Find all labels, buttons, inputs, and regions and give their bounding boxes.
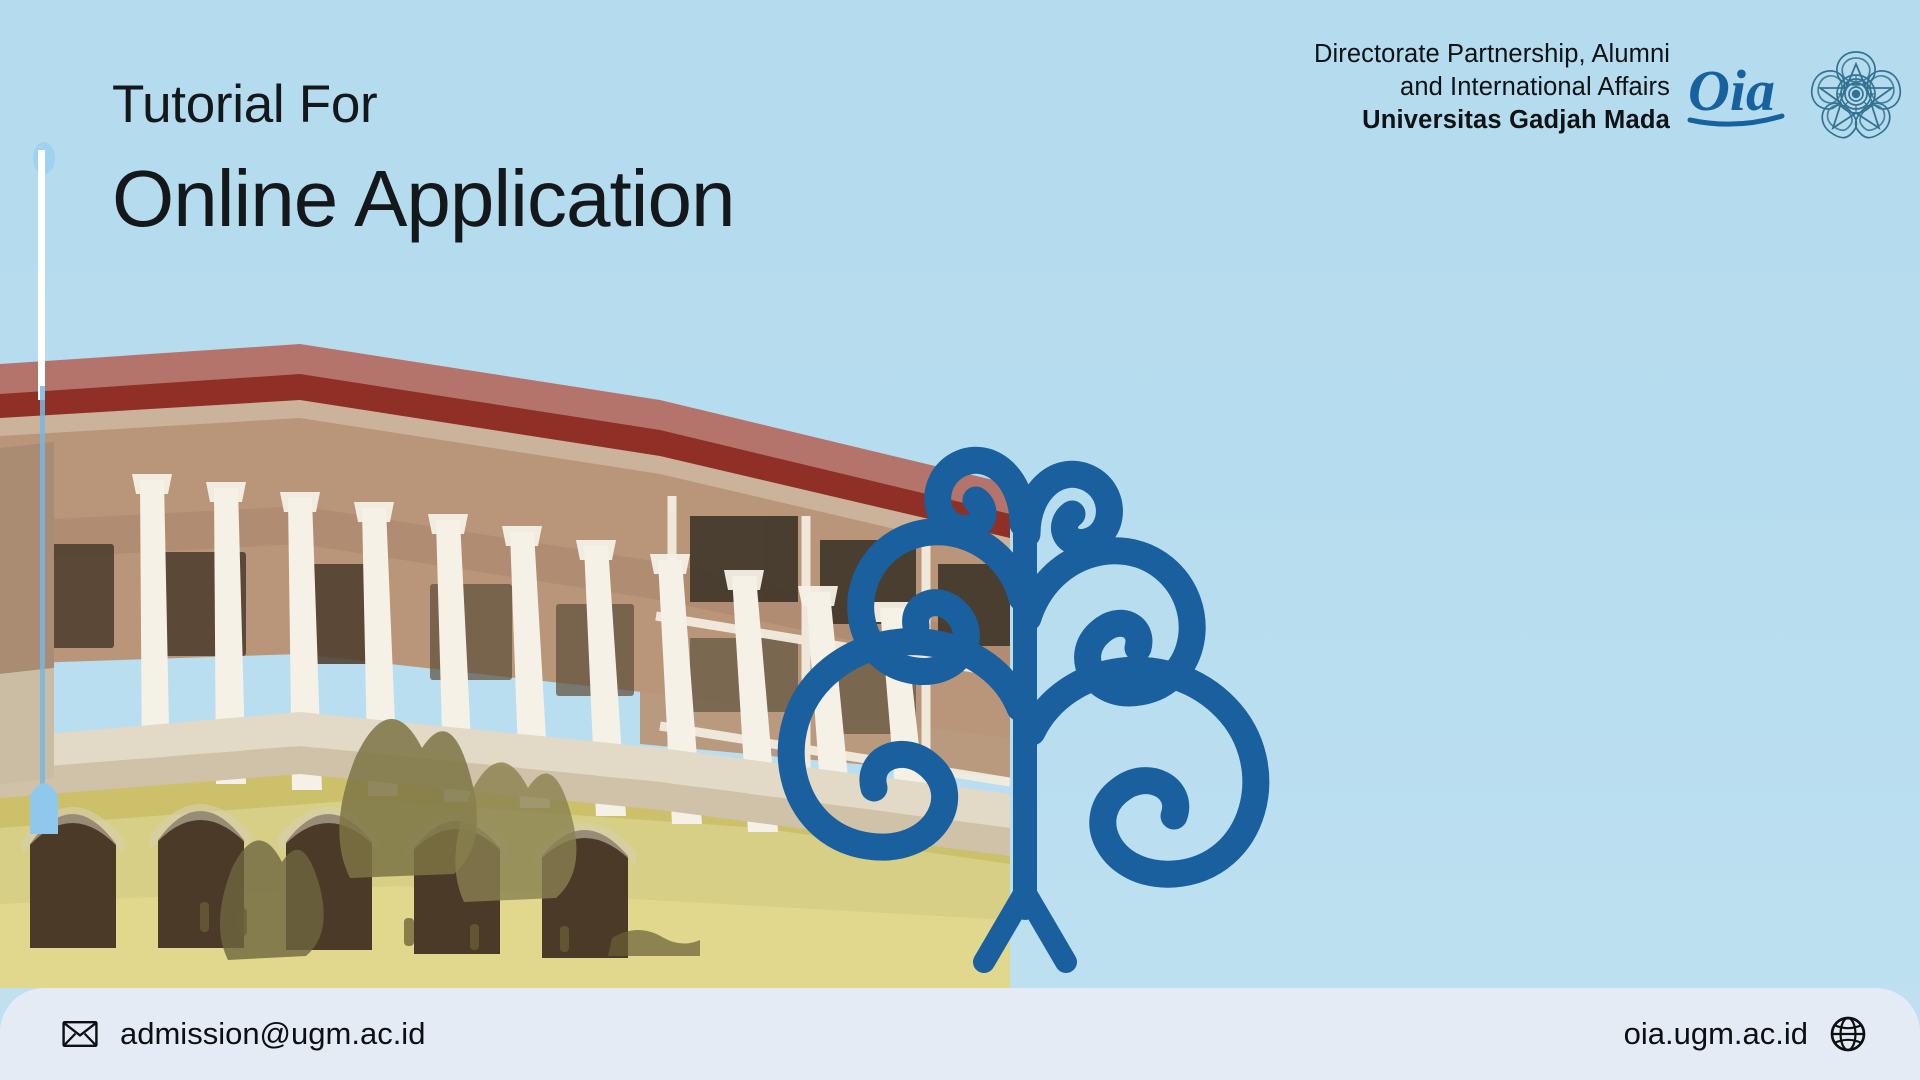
ugm-seal-logo xyxy=(1804,44,1908,140)
footer-email-group[interactable]: admission@ugm.ac.id xyxy=(62,1016,425,1052)
footer-bar: admission@ugm.ac.id oia.ugm.ac.id xyxy=(0,988,1920,1080)
organization-name-block: Directorate Partnership, Alumni and Inte… xyxy=(1314,38,1670,137)
globe-icon xyxy=(1830,1016,1866,1052)
footer-website-text[interactable]: oia.ugm.ac.id xyxy=(1624,1016,1808,1052)
footer-email-text[interactable]: admission@ugm.ac.id xyxy=(120,1016,425,1052)
oia-wordmark-text: Oia xyxy=(1688,58,1775,123)
footer-website-group[interactable]: oia.ugm.ac.id xyxy=(1624,1016,1866,1052)
ornamental-tree-of-life-graphic xyxy=(770,422,1280,992)
org-line-2: and International Affairs xyxy=(1314,71,1670,104)
slide-canvas: Directorate Partnership, Alumni and Inte… xyxy=(0,0,1920,1080)
page-title: Online Application xyxy=(112,159,734,239)
oia-logo: Oia xyxy=(1684,48,1792,134)
flagpole-illustration xyxy=(24,136,64,836)
org-line-1: Directorate Partnership, Alumni xyxy=(1314,38,1670,71)
envelope-icon xyxy=(62,1016,98,1052)
org-line-university: Universitas Gadjah Mada xyxy=(1314,104,1670,137)
title-eyebrow: Tutorial For xyxy=(112,78,734,131)
page-title-block: Tutorial For Online Application xyxy=(112,78,734,239)
